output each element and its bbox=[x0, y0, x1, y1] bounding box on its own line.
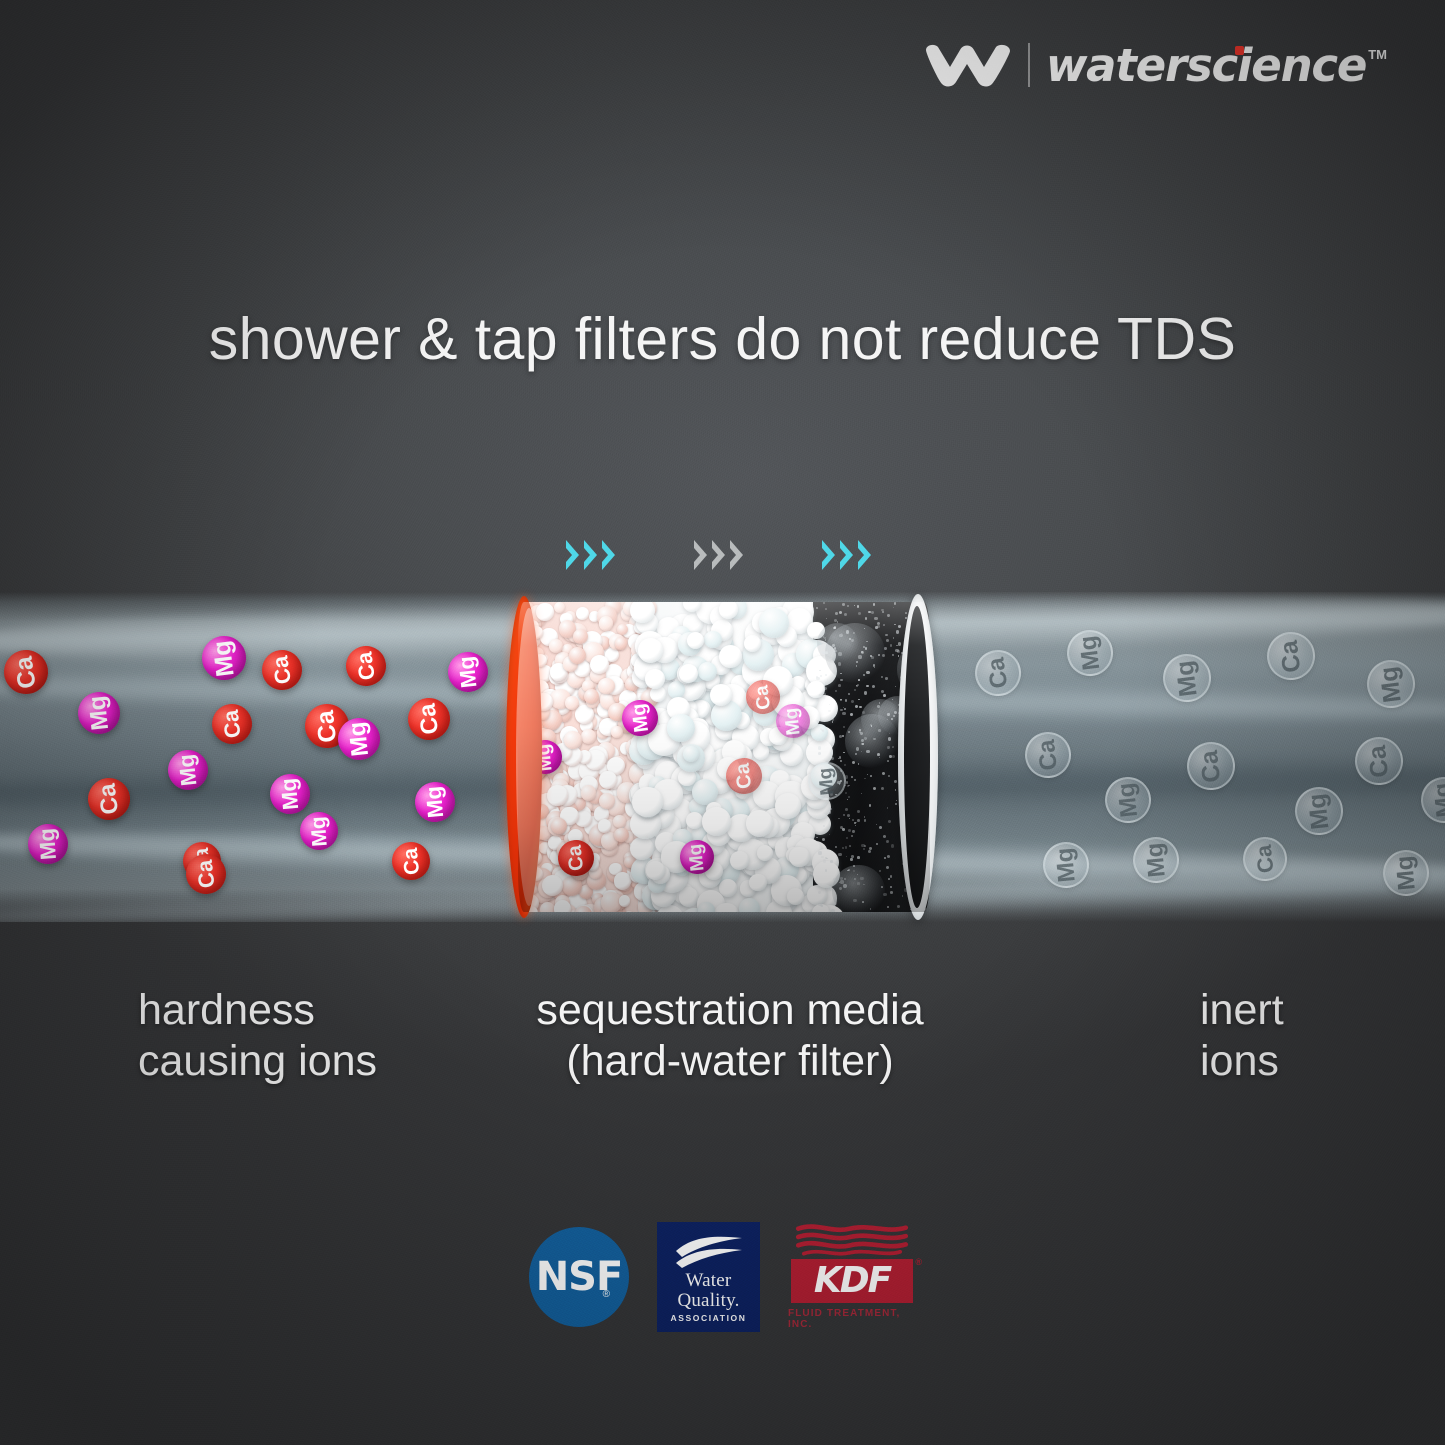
ion-label: Mg bbox=[345, 721, 372, 758]
chevron-right-icon bbox=[693, 538, 709, 572]
chevron-right-icon bbox=[601, 538, 617, 572]
filter-cartridge: MgMgCaCaMgCaMgMg bbox=[500, 596, 948, 918]
certification-badges: NSF ® Water Quality. ASSOCIATION KDF ® bbox=[0, 1222, 1445, 1332]
ion-label: Mg bbox=[1305, 792, 1334, 831]
logo-wordmark-text: waterscience bbox=[1046, 43, 1366, 88]
calcium-ion: Ca bbox=[1264, 629, 1317, 682]
ion-label: Mg bbox=[686, 842, 708, 871]
ion-label: Ca bbox=[11, 654, 40, 689]
calcium-ion: Ca bbox=[390, 840, 431, 881]
magnesium-ion: Mg bbox=[446, 650, 490, 694]
ion-label: Ca bbox=[752, 684, 774, 710]
logo-divider bbox=[1028, 43, 1030, 87]
magnesium-ion: Mg bbox=[1041, 840, 1091, 890]
ion-label: Ca bbox=[1277, 639, 1306, 674]
ion-label: Ca bbox=[269, 655, 295, 686]
wqa-wave-icon bbox=[672, 1235, 746, 1269]
magnesium-ion: Mg bbox=[76, 690, 122, 736]
outlet-ion-field: CaMgCaMgMgMgCaMgCaCaMgMgCaMgMg bbox=[955, 592, 1445, 922]
kdf-badge[interactable]: KDF ® FLUID TREATMENT, INC. bbox=[788, 1224, 916, 1330]
chevron-group-right bbox=[821, 538, 873, 572]
calcium-ion: Ca bbox=[724, 756, 764, 796]
ion-label: Mg bbox=[1393, 855, 1420, 892]
chevron-right-icon bbox=[821, 538, 837, 572]
ion-label: Mg bbox=[278, 777, 303, 811]
trapped-ion-field: MgMgCaCaMgCaMgMg bbox=[518, 602, 930, 912]
kdf-registered-mark: ® bbox=[915, 1257, 922, 1267]
magnesium-ion: Mg bbox=[199, 633, 248, 682]
flow-arrows bbox=[565, 538, 885, 578]
ion-label: Mg bbox=[816, 766, 838, 795]
magnesium-ion: Mg bbox=[1160, 651, 1213, 704]
ion-label: Ca bbox=[399, 847, 422, 876]
magnesium-ion: Mg bbox=[774, 702, 811, 739]
ion-label: Ca bbox=[313, 709, 341, 743]
ion-label: Ca bbox=[1197, 749, 1225, 783]
magnesium-ion: Mg bbox=[1064, 627, 1115, 678]
cartridge-body: MgMgCaCaMgCaMgMg bbox=[518, 602, 930, 912]
chevron-right-icon bbox=[839, 538, 855, 572]
infographic-canvas: waterscience TM shower & tap filters do … bbox=[0, 0, 1445, 1445]
magnesium-ion: Mg bbox=[27, 823, 70, 866]
nsf-registered-mark: ® bbox=[603, 1289, 610, 1300]
ion-label: Mg bbox=[307, 815, 330, 847]
magnesium-ion: Mg bbox=[806, 760, 848, 802]
ion-label: Ca bbox=[194, 859, 219, 889]
calcium-ion: Ca bbox=[259, 647, 304, 692]
waterscience-w-mark-icon bbox=[924, 43, 1012, 87]
chevron-right-icon bbox=[729, 538, 745, 572]
ion-label: Mg bbox=[1076, 634, 1104, 671]
magnesium-ion: Mg bbox=[1103, 775, 1154, 826]
calcium-ion: Ca bbox=[86, 776, 133, 823]
kdf-subtitle: FLUID TREATMENT, INC. bbox=[788, 1308, 916, 1330]
ion-label: Mg bbox=[175, 753, 200, 787]
ion-label: Mg bbox=[1114, 782, 1141, 819]
outlet-rim-inner bbox=[904, 606, 930, 908]
magnesium-ion: Mg bbox=[166, 748, 210, 792]
nsf-badge[interactable]: NSF ® bbox=[529, 1227, 629, 1327]
chevron-right-icon bbox=[711, 538, 727, 572]
magnesium-ion: Mg bbox=[413, 780, 456, 823]
ion-label: Mg bbox=[209, 639, 238, 678]
ion-label: Ca bbox=[1253, 844, 1278, 874]
ion-label: Ca bbox=[1034, 738, 1061, 771]
ion-label: Ca bbox=[565, 844, 588, 872]
caption-inert-ions: inert ions bbox=[1200, 985, 1284, 1086]
ion-label: Mg bbox=[455, 655, 480, 689]
wqa-line-3: ASSOCIATION bbox=[670, 1313, 746, 1323]
ion-label: Ca bbox=[95, 782, 123, 815]
ion-label: Ca bbox=[220, 709, 245, 739]
wqa-badge[interactable]: Water Quality. ASSOCIATION bbox=[657, 1222, 760, 1332]
inlet-ion-field: CaMgMgCaCaMgMgCaMgCaCaMgCaMgMgCaCaMgCa bbox=[0, 592, 500, 922]
caption-sequestration-media: sequestration media (hard-water filter) bbox=[430, 985, 1030, 1086]
ion-label: Mg bbox=[1172, 659, 1201, 698]
wqa-line-2: Quality. bbox=[677, 1291, 739, 1310]
inlet-rim-inner bbox=[516, 608, 542, 906]
caption-hardness-ions: hardness causing ions bbox=[138, 985, 377, 1086]
magnesium-ion: Mg bbox=[620, 698, 660, 738]
calcium-ion: Ca bbox=[406, 696, 453, 743]
ion-label: Ca bbox=[984, 656, 1012, 690]
calcium-ion: Ca bbox=[972, 647, 1024, 699]
calcium-ion: Ca bbox=[1241, 835, 1289, 883]
calcium-ion: Ca bbox=[344, 644, 389, 689]
kdf-wordmark-bar: KDF ® bbox=[791, 1259, 913, 1303]
wqa-line-1: Water bbox=[686, 1271, 732, 1290]
logo-i-dot-icon bbox=[1235, 46, 1244, 55]
ion-label: Mg bbox=[1430, 782, 1445, 819]
magnesium-ion: Mg bbox=[336, 716, 382, 762]
calcium-ion: Ca bbox=[1185, 740, 1238, 793]
ion-label: Mg bbox=[1143, 842, 1170, 879]
ion-label: Mg bbox=[423, 785, 448, 819]
page-title: shower & tap filters do not reduce TDS bbox=[0, 305, 1445, 373]
ion-label: Ca bbox=[353, 651, 378, 682]
magnesium-ion: Mg bbox=[299, 811, 340, 852]
magnesium-ion: Mg bbox=[1364, 657, 1417, 710]
ion-label: Mg bbox=[1376, 665, 1405, 704]
chevron-group-left bbox=[565, 538, 617, 572]
calcium-ion: Ca bbox=[556, 838, 596, 878]
kdf-label: KDF bbox=[814, 1260, 890, 1301]
chevron-right-icon bbox=[565, 538, 581, 572]
kdf-wave-lines-icon bbox=[792, 1224, 912, 1256]
magnesium-ion: Mg bbox=[1293, 785, 1346, 838]
chevron-right-icon bbox=[583, 538, 599, 572]
magnesium-ion: Mg bbox=[1131, 835, 1181, 885]
ion-label: Mg bbox=[628, 702, 651, 733]
ion-label: Mg bbox=[36, 827, 60, 860]
trademark-symbol: TM bbox=[1368, 47, 1387, 62]
ion-label: Ca bbox=[415, 702, 443, 735]
calcium-ion: Ca bbox=[1, 647, 51, 697]
calcium-ion: Ca bbox=[1353, 735, 1406, 788]
chevron-right-icon bbox=[857, 538, 873, 572]
calcium-ion: Ca bbox=[1023, 730, 1074, 781]
magnesium-ion: Mg bbox=[678, 838, 715, 875]
ion-label: Mg bbox=[85, 695, 112, 732]
magnesium-ion: Mg bbox=[1419, 775, 1445, 826]
brand-logo[interactable]: waterscience TM bbox=[924, 36, 1387, 94]
chevron-group-mid bbox=[693, 538, 745, 572]
magnesium-ion: Mg bbox=[1381, 848, 1431, 898]
calcium-ion: Ca bbox=[210, 702, 254, 746]
ion-label: Mg bbox=[782, 706, 804, 735]
calcium-ion: Ca bbox=[744, 678, 782, 716]
magnesium-ion: Mg bbox=[268, 772, 311, 815]
ion-label: Mg bbox=[1053, 847, 1080, 884]
ion-label: Ca bbox=[1365, 744, 1393, 778]
logo-wordmark: waterscience TM bbox=[1046, 43, 1387, 88]
ion-label: Ca bbox=[733, 762, 756, 790]
